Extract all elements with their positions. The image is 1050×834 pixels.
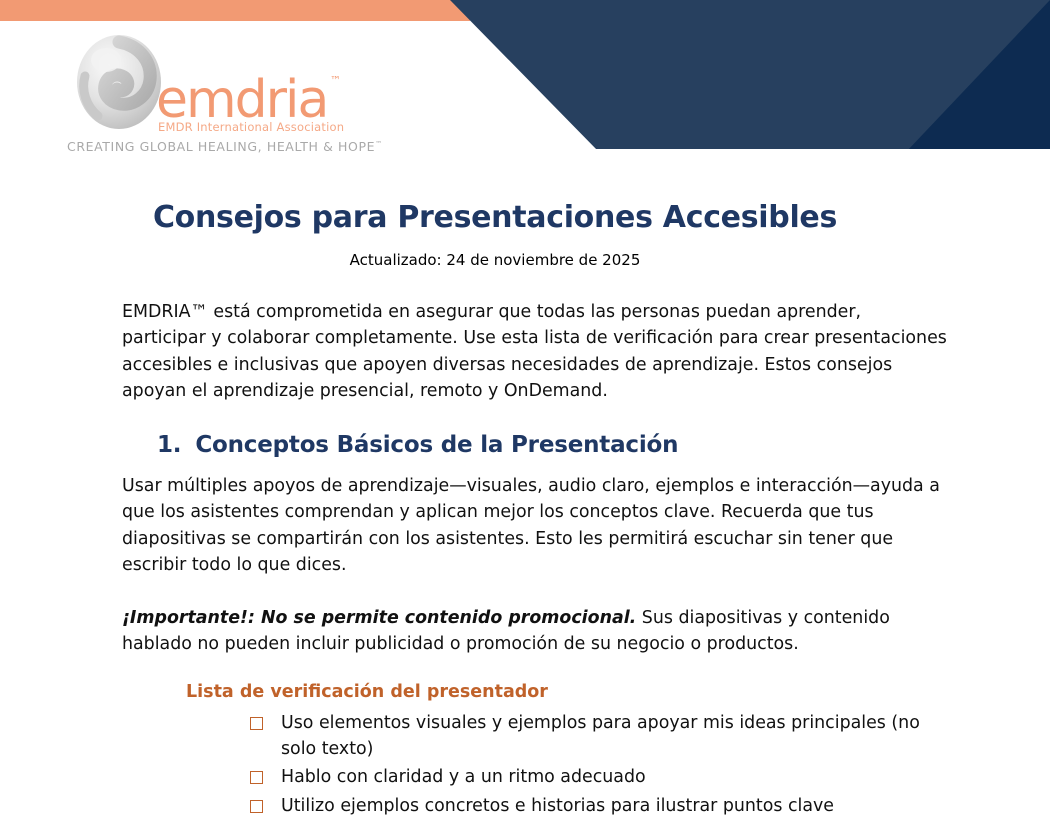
document-body: Consejos para Presentaciones Accesibles … [0, 152, 1050, 819]
section-heading-1: 1. Conceptos Básicos de la Presentación [0, 432, 1050, 458]
important-notice-paragraph: ¡Importante!: No se permite contenido pr… [0, 605, 1050, 658]
section-heading-label: Conceptos Básicos de la Presentación [195, 432, 678, 458]
logo-subtitle: EMDR International Association [158, 120, 344, 134]
important-notice-bold: ¡Importante!: No se permite contenido pr… [122, 608, 636, 628]
emdria-swirl-sphere-icon [76, 34, 162, 130]
page-title: Consejos para Presentaciones Accesibles [0, 200, 1050, 235]
checkbox-unchecked-icon[interactable] [250, 717, 263, 730]
header-orange-bar [0, 0, 470, 21]
list-item[interactable]: Uso elementos visuales y ejemplos para a… [0, 710, 1050, 763]
section-paragraph: Usar múltiples apoyos de aprendizaje—vis… [0, 473, 1050, 579]
checkbox-unchecked-icon[interactable] [250, 800, 263, 813]
presenter-checklist: Uso elementos visuales y ejemplos para a… [0, 710, 1050, 820]
document-page: emdria ™ EMDR International Association … [0, 0, 1050, 834]
list-item[interactable]: Hablo con claridad y a un ritmo adecuado [0, 764, 1050, 790]
logo-wordmark: emdria [156, 74, 327, 126]
page-header-banner: emdria ™ EMDR International Association … [0, 0, 1050, 152]
section-number: 1. [157, 432, 181, 458]
list-item[interactable]: Utilizo ejemplos concretos e historias p… [0, 793, 1050, 819]
list-item-label: Uso elementos visuales y ejemplos para a… [281, 713, 920, 759]
logo-tagline-trademark-icon: ™ [375, 140, 383, 148]
checkbox-unchecked-icon[interactable] [250, 771, 263, 784]
emdria-logo: emdria ™ EMDR International Association … [68, 32, 368, 157]
page-subtitle-updated-date: Actualizado: 24 de noviembre de 2025 [0, 251, 1050, 269]
checklist-heading: Lista de verificación del presentador [0, 682, 1050, 702]
list-item-label: Utilizo ejemplos concretos e historias p… [281, 796, 834, 816]
intro-paragraph: EMDRIA™ está comprometida en asegurar qu… [0, 299, 1050, 405]
logo-trademark-icon: ™ [330, 74, 341, 87]
list-item-label: Hablo con claridad y a un ritmo adecuado [281, 767, 646, 787]
